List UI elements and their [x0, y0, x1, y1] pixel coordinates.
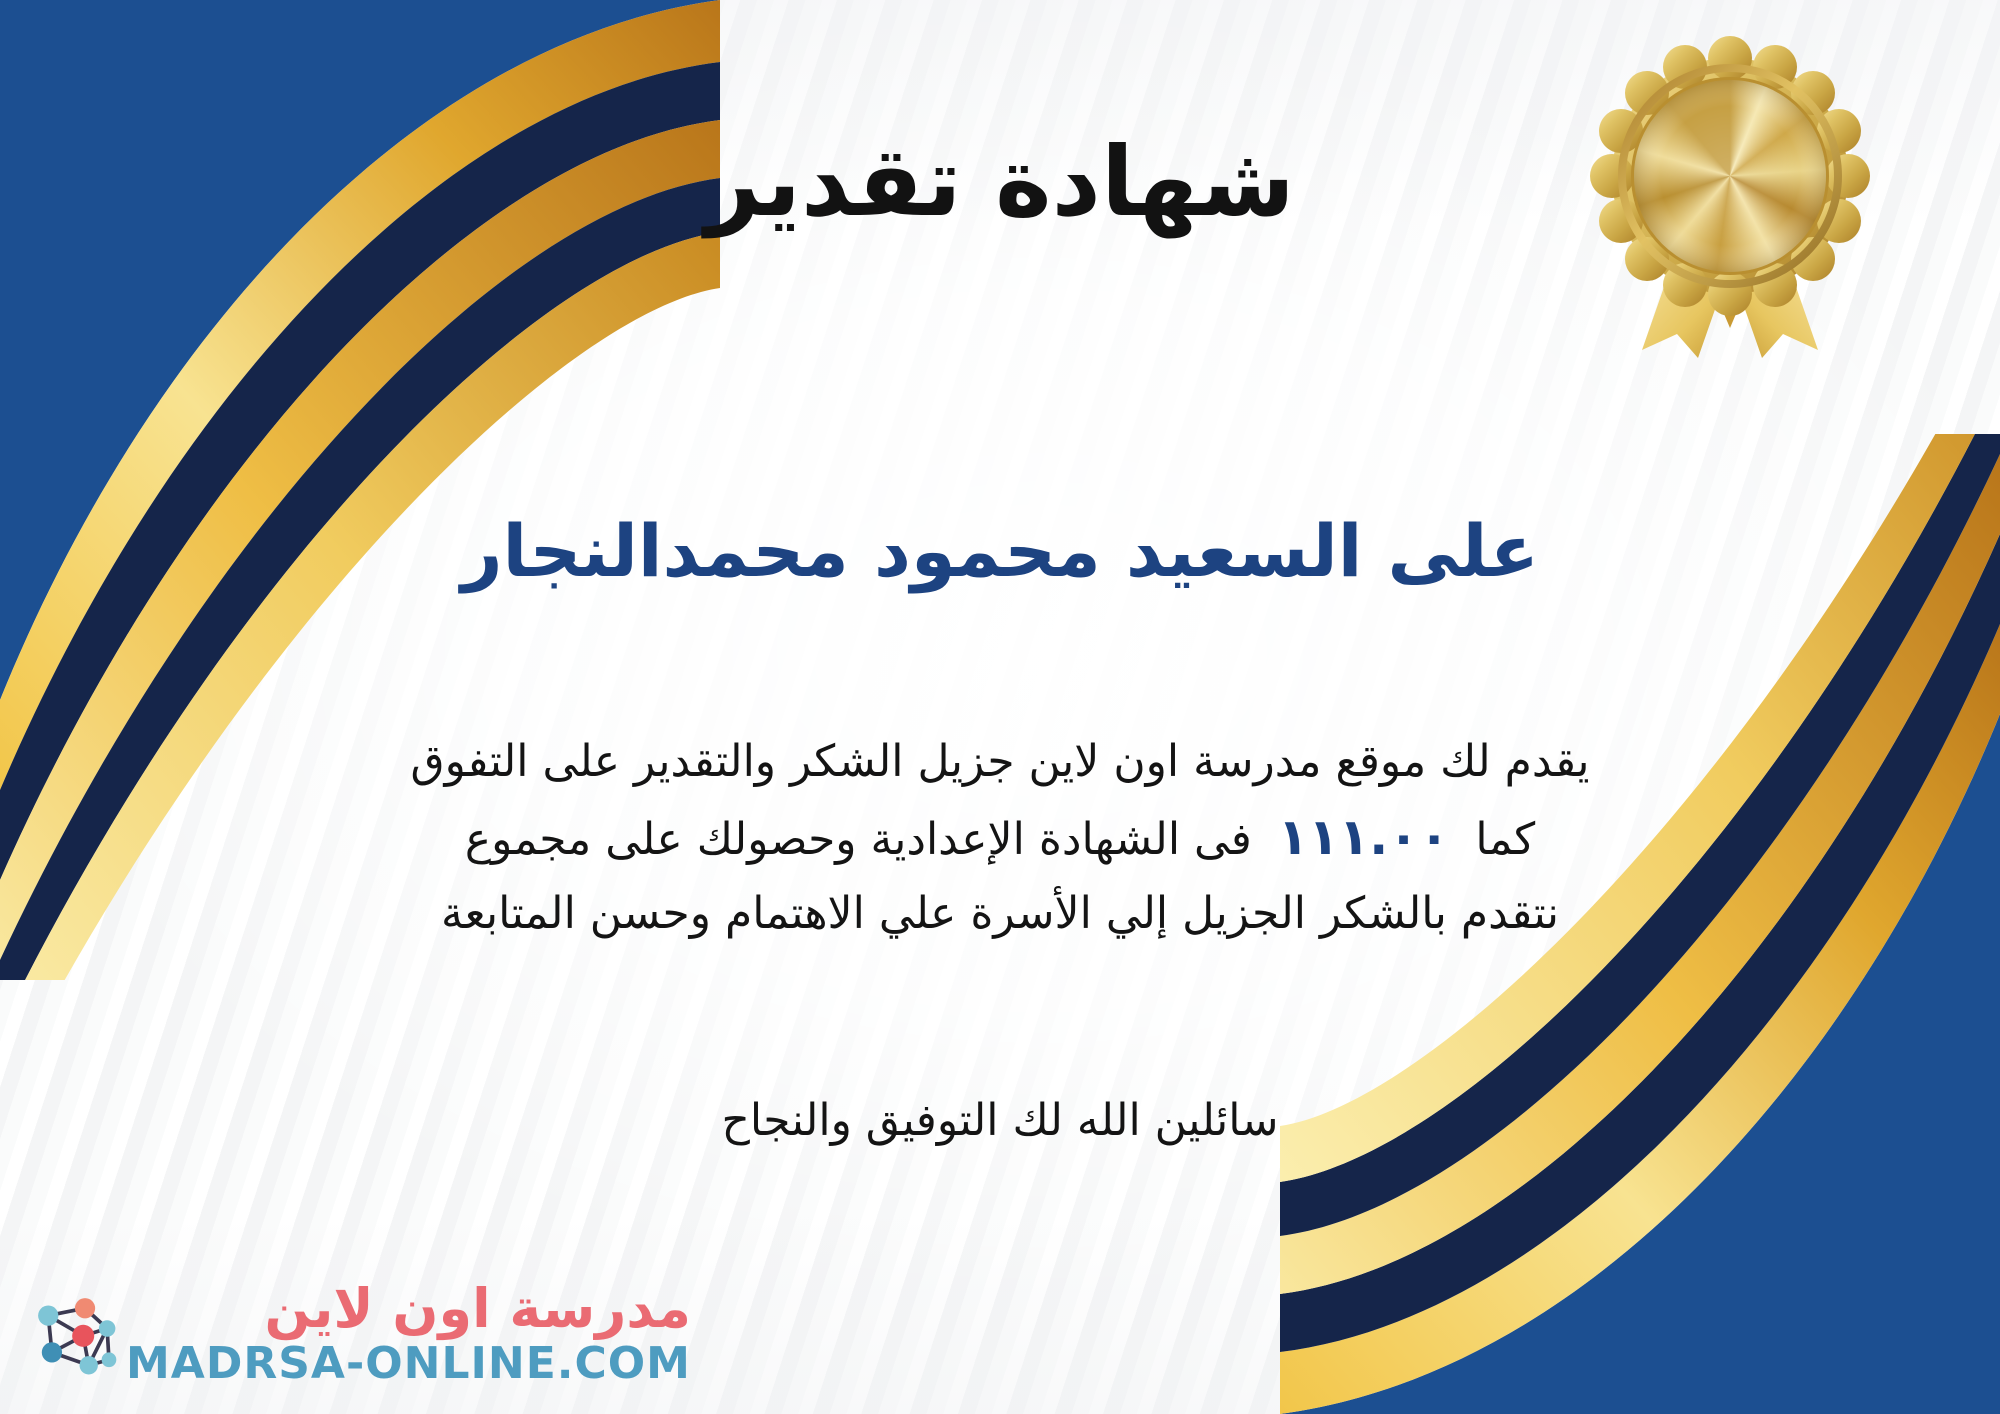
body-line-2: كما١١١.٠٠فى الشهادة الإعدادية وحصولك على…	[40, 797, 1960, 878]
body-line-3: نتقدم بالشكر الجزيل إلي الأسرة علي الاهت…	[40, 878, 1960, 949]
total-score-value: ١١١.٠٠	[1252, 808, 1476, 866]
certificate-body: يقدم لك موقع مدرسة اون لاين جزيل الشكر و…	[40, 726, 1960, 950]
brand-logo[interactable]: مدرسة اون لاين MADRSA-ONLINE.COM	[28, 1282, 691, 1386]
certificate-content: شهادة تقدير على السعيد محمود محمدالنجار …	[0, 0, 2000, 1414]
certificate-page: شهادة تقدير على السعيد محمود محمدالنجار …	[0, 0, 2000, 1414]
brand-website-url[interactable]: MADRSA-ONLINE.COM	[126, 1342, 691, 1386]
closing-wish-text: سائلين الله لك التوفيق والنجاح	[0, 1088, 2000, 1154]
brand-arabic-name: مدرسة اون لاين	[265, 1282, 691, 1336]
body-line-2-tail-text: كما	[1475, 814, 1535, 865]
brand-text-group: مدرسة اون لاين MADRSA-ONLINE.COM	[126, 1282, 691, 1386]
network-nodes-icon	[28, 1288, 120, 1380]
body-line-1: يقدم لك موقع مدرسة اون لاين جزيل الشكر و…	[40, 726, 1960, 797]
body-line-2-lead-text: فى الشهادة الإعدادية وحصولك على مجموع	[465, 814, 1252, 865]
recipient-name: على السعيد محمود محمدالنجار	[0, 510, 2000, 593]
certificate-title: شهادة تقدير	[0, 130, 2000, 236]
